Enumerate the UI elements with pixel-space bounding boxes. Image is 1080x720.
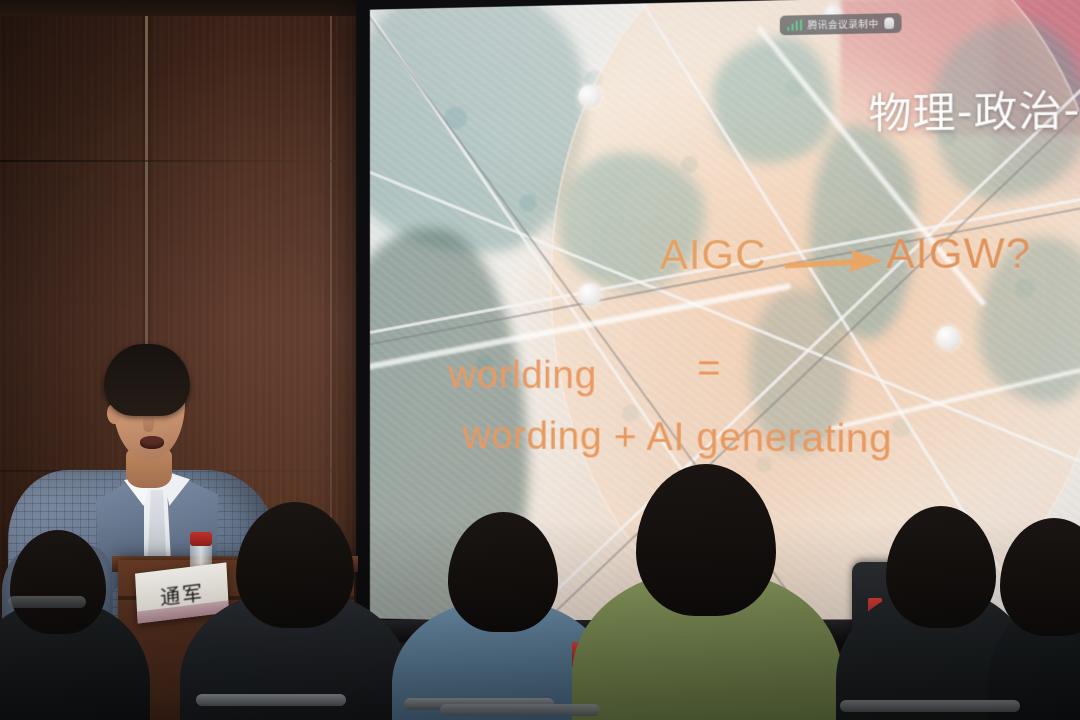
audience-head xyxy=(10,530,106,634)
signal-bars-icon xyxy=(787,19,802,31)
speaker-mouth xyxy=(140,436,164,449)
speaker-hair xyxy=(104,344,190,416)
chair-top-rail xyxy=(840,700,1020,712)
microphone-icon xyxy=(884,17,894,29)
conference-photo: 物理-政治-技 AIGC AIGW? worlding = wording + … xyxy=(0,0,1080,720)
status-badge-label: 腾讯会议录制中 xyxy=(808,16,879,31)
chair-top-rail xyxy=(8,596,86,608)
audience-head xyxy=(236,502,354,628)
slide-definition-body: wording + AI generating xyxy=(463,415,892,463)
audience-head xyxy=(886,506,996,628)
slide-definition-term: worlding xyxy=(448,354,596,398)
audience-row xyxy=(0,460,1080,720)
slide-heading-cn: 物理-政治-技 xyxy=(868,76,1080,141)
slide-aigc-label: AIGC xyxy=(660,232,767,279)
slide-aigw-label: AIGW? xyxy=(886,231,1031,279)
status-badge: 腾讯会议录制中 xyxy=(780,13,902,35)
chair-top-rail xyxy=(196,694,346,706)
right-arrow-icon xyxy=(783,248,884,275)
chair-top-rail xyxy=(440,704,600,716)
slide-definition-equals: = xyxy=(697,348,720,392)
audience-head xyxy=(636,464,776,616)
audience-head xyxy=(448,512,558,632)
audience-head xyxy=(1000,518,1080,636)
